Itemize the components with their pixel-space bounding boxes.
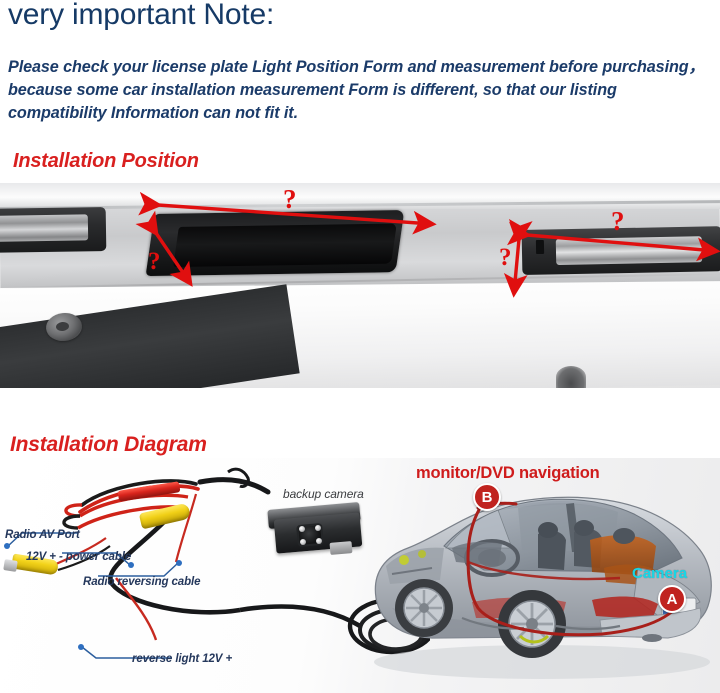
note-paragraph: Please check your license plate Light Po… — [8, 56, 714, 125]
page-title: very important Note: — [8, 0, 274, 32]
measure-arrow-mid-right — [514, 239, 519, 293]
measure-label-top-left: ? — [283, 186, 297, 213]
callout-radio-reversing-cable: Radio reversing cable — [83, 576, 200, 588]
installation-diagram-image: Radio AV Port 12V + - power cable Radio … — [0, 458, 720, 693]
measure-arrow-mid-left — [156, 233, 190, 283]
installation-position-photo: ? ? ? ? — [0, 183, 720, 388]
camera-led-2 — [315, 525, 321, 531]
label-camera: Camera — [632, 565, 687, 582]
backup-camera-bracket — [330, 541, 353, 555]
product-listing-page: very important Note: Please check your l… — [0, 0, 720, 693]
callout-power-cable: 12V + - power cable — [26, 551, 131, 563]
measure-label-mid-right: ? — [499, 245, 512, 270]
measure-arrow-top-right — [527, 235, 716, 251]
camera-led-1 — [299, 526, 305, 532]
callout-radio-av-port: Radio AV Port — [5, 529, 80, 541]
measure-label-top-right: ? — [611, 208, 625, 235]
camera-led-4 — [316, 538, 322, 544]
measure-label-mid-left: ? — [148, 249, 161, 274]
camera-led-3 — [300, 539, 306, 545]
marker-a: A — [658, 585, 686, 613]
section-heading-installation-position: Installation Position — [13, 150, 199, 173]
rca-connector-tip — [3, 559, 18, 572]
section-heading-installation-diagram: Installation Diagram — [10, 433, 207, 457]
callout-reverse-light: reverse light 12V + — [132, 653, 232, 665]
marker-b: B — [473, 483, 501, 511]
label-monitor-dvd-navigation: monitor/DVD navigation — [416, 464, 600, 483]
